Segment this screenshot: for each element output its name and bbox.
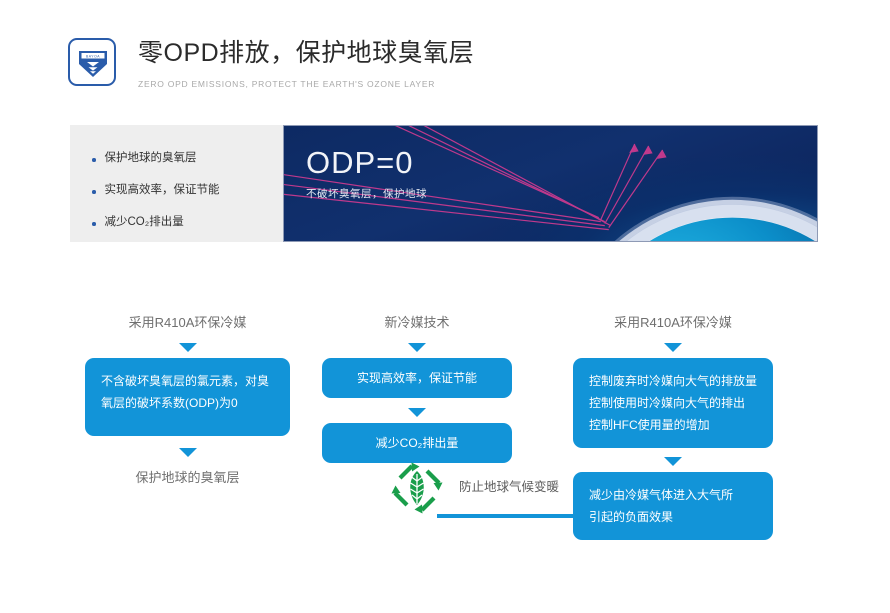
column-3-box-1: 控制废弃时冷媒向大气的排放量 控制使用时冷媒向大气的排出 控制HFC使用量的增加 bbox=[573, 358, 773, 448]
banner-subline: 不破坏臭氧层，保护地球 bbox=[306, 186, 427, 201]
bullet-label: 实现高效率，保证节能 bbox=[105, 183, 220, 198]
header-text-block: 零OPD排放，保护地球臭氧层 ZERO OPD EMISSIONS, PROTE… bbox=[138, 36, 474, 89]
slide-canvas: BAYOA 零OPD排放，保护地球臭氧层 ZERO OPD EMISSIONS,… bbox=[0, 0, 890, 613]
list-item: 减少CO₂排出量 bbox=[92, 215, 283, 230]
column-3-box-1-text: 控制废弃时冷媒向大气的排放量 控制使用时冷媒向大气的排出 控制HFC使用量的增加 bbox=[589, 374, 757, 432]
bullet-dot-icon bbox=[92, 190, 96, 194]
column-1-footer: 保护地球的臭氧层 bbox=[85, 467, 290, 486]
bullet-dot-icon bbox=[92, 158, 96, 162]
arrow-down-icon bbox=[408, 343, 426, 352]
flow-column-3: 采用R410A环保冷媒 控制废弃时冷媒向大气的排放量 控制使用时冷媒向大气的排出… bbox=[573, 312, 773, 540]
bullet-panel: 保护地球的臭氧层 实现高效率，保证节能 减少CO₂排出量 bbox=[70, 125, 283, 242]
arrow-down-icon bbox=[179, 448, 197, 457]
earth-banner: ODP=0 不破坏臭氧层，保护地球 bbox=[283, 125, 818, 242]
column-2-box-1-text: 实现高效率，保证节能 bbox=[357, 371, 477, 385]
bullet-label: 保护地球的臭氧层 bbox=[105, 151, 197, 166]
page-header: BAYOA 零OPD排放，保护地球臭氧层 ZERO OPD EMISSIONS,… bbox=[68, 36, 474, 89]
column-2-box-1: 实现高效率，保证节能 bbox=[322, 358, 512, 398]
list-item: 实现高效率，保证节能 bbox=[92, 183, 283, 198]
svg-text:BAYOA: BAYOA bbox=[86, 54, 100, 58]
shield-icon: BAYOA bbox=[77, 49, 109, 79]
column-3-heading: 采用R410A环保冷媒 bbox=[573, 312, 773, 331]
page-title: 零OPD排放，保护地球臭氧层 bbox=[138, 36, 474, 70]
list-item: 保护地球的臭氧层 bbox=[92, 151, 283, 166]
arrow-down-icon bbox=[408, 408, 426, 417]
column-2-heading: 新冷媒技术 bbox=[322, 312, 512, 331]
column-1-heading: 采用R410A环保冷媒 bbox=[85, 312, 290, 331]
leaf-label: 防止地球气候变暖 bbox=[459, 476, 559, 495]
bullet-dot-icon bbox=[92, 222, 96, 226]
column-3-box-2-text: 减少由冷媒气体进入大气所 引起的负面效果 bbox=[589, 488, 733, 524]
recycle-leaf-icon bbox=[386, 457, 448, 519]
page-subtitle: ZERO OPD EMISSIONS, PROTECT THE EARTH'S … bbox=[138, 79, 474, 89]
arrow-down-icon bbox=[664, 343, 682, 352]
arrow-down-icon bbox=[664, 457, 682, 466]
leaf-glyph bbox=[410, 471, 424, 505]
banner-text-block: ODP=0 不破坏臭氧层，保护地球 bbox=[306, 145, 427, 201]
column-1-box-1-text: 不含破坏臭氧层的氯元素，对臭 氧层的破坏系数(ODP)为0 bbox=[101, 374, 269, 410]
column-2-box-2-text: 减少CO₂排出量 bbox=[376, 436, 459, 450]
feature-strip: 保护地球的臭氧层 实现高效率，保证节能 减少CO₂排出量 bbox=[70, 125, 818, 242]
column-1-box-1: 不含破坏臭氧层的氯元素，对臭 氧层的破坏系数(ODP)为0 bbox=[85, 358, 290, 436]
flow-column-2: 新冷媒技术 实现高效率，保证节能 减少CO₂排出量 bbox=[322, 312, 512, 463]
arrow-down-icon bbox=[179, 343, 197, 352]
column-3-box-2: 减少由冷媒气体进入大气所 引起的负面效果 bbox=[573, 472, 773, 540]
banner-headline: ODP=0 bbox=[306, 145, 427, 181]
flow-column-1: 采用R410A环保冷媒 不含破坏臭氧层的氯元素，对臭 氧层的破坏系数(ODP)为… bbox=[85, 312, 290, 486]
recycle-leaf-badge bbox=[386, 457, 448, 519]
brand-logo: BAYOA bbox=[68, 38, 116, 86]
bullet-label: 减少CO₂排出量 bbox=[105, 215, 184, 230]
